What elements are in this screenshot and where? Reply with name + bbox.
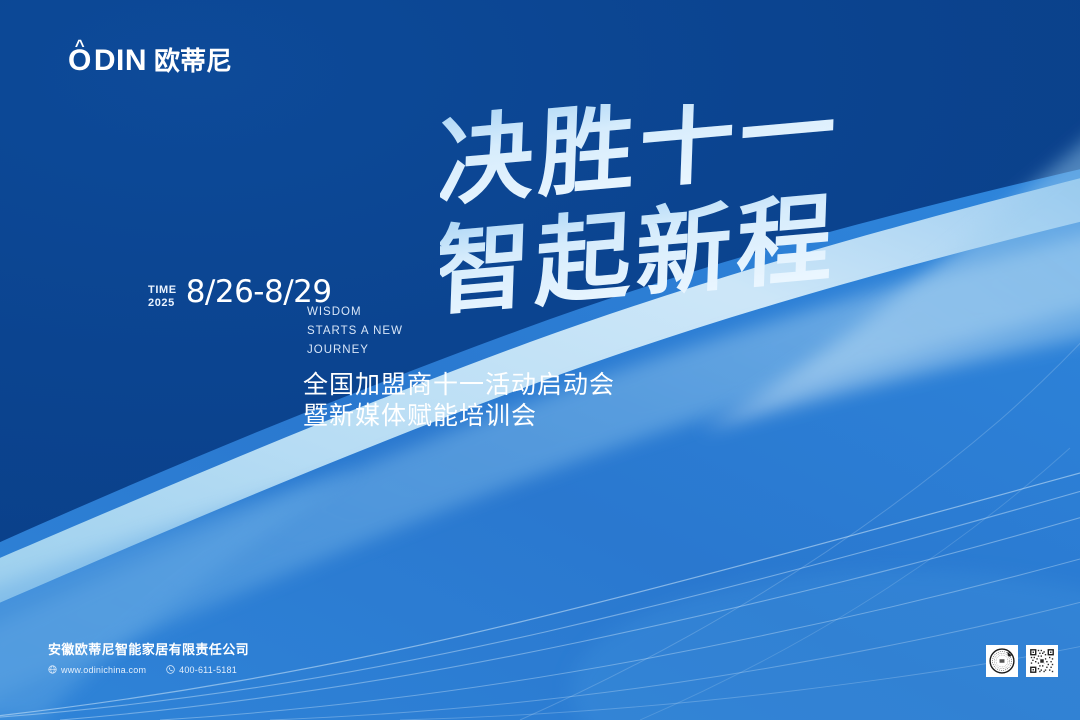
background-wave-artwork — [0, 0, 1080, 720]
website-text: www.odinichina.com — [61, 665, 146, 675]
tagline-line-1: WISDOM — [307, 303, 403, 322]
footer-info: 安徽欧蒂尼智能家居有限责任公司 www.odinichina.com — [48, 642, 249, 675]
tagline-line-2: STARTS A NEW — [307, 322, 403, 341]
event-date-block: TIME 2025 8/26-8/29 — [148, 277, 332, 311]
website-item[interactable]: www.odinichina.com — [48, 665, 146, 675]
phone-item[interactable]: 400-611-5181 — [166, 665, 237, 675]
mini-program-qr[interactable] — [1026, 645, 1058, 677]
company-name: 安徽欧蒂尼智能家居有限责任公司 — [48, 642, 249, 659]
subtitle-line-2: 暨新媒体赋能培训会 — [303, 401, 615, 432]
wechat-official-qr[interactable] — [986, 645, 1018, 677]
date-label-time: TIME — [148, 284, 177, 297]
event-subtitle: 全国加盟商十一活动启动会 暨新媒体赋能培训会 — [303, 370, 615, 432]
contact-row: www.odinichina.com 400-611-5181 — [48, 665, 249, 675]
logo-o-letter: ^ O — [68, 46, 92, 76]
qr-code-group — [986, 645, 1058, 677]
subtitle-line-1: 全国加盟商十一活动启动会 — [303, 370, 615, 401]
phone-text: 400-611-5181 — [179, 665, 237, 675]
logo-circumflex-icon: ^ — [75, 37, 85, 54]
english-tagline: WISDOM STARTS A NEW JOURNEY — [307, 303, 403, 360]
event-poster: ^ O DIN 欧蒂尼 决胜十一 智起新程 TIME 2025 8/26-8/2… — [0, 0, 1080, 720]
date-label-year: 2025 — [148, 297, 177, 310]
globe-icon — [48, 665, 57, 674]
date-label: TIME 2025 — [148, 277, 177, 311]
tagline-line-3: JOURNEY — [307, 341, 403, 360]
phone-icon — [166, 665, 175, 674]
logo-chinese-text: 欧蒂尼 — [154, 47, 232, 76]
logo-latin-text: DIN — [94, 46, 147, 76]
brand-logo[interactable]: ^ O DIN 欧蒂尼 — [68, 46, 232, 76]
